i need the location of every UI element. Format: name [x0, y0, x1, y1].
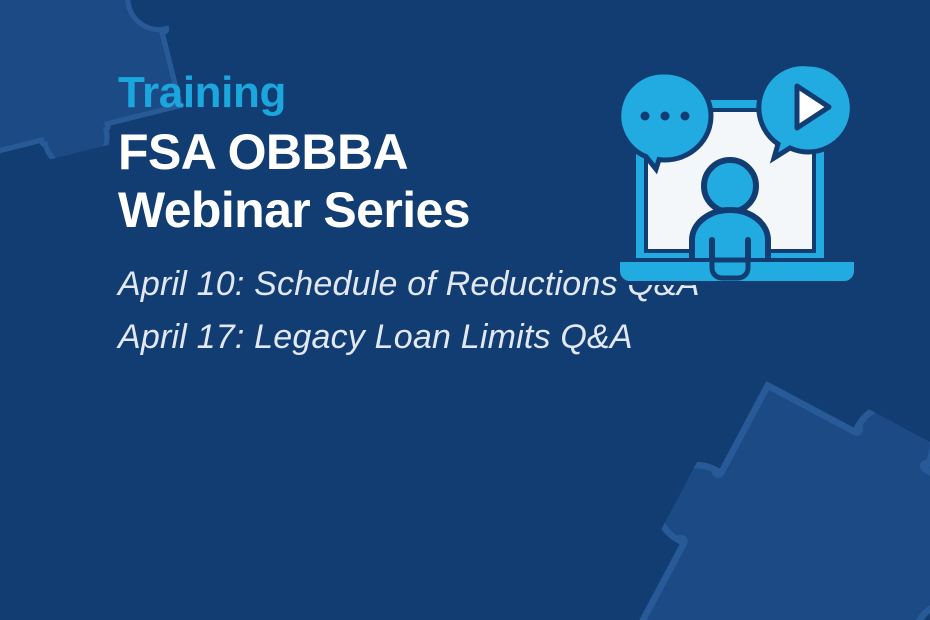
puzzle-piece-bottom-right-icon	[602, 350, 930, 620]
webinar-illustration	[612, 62, 862, 290]
webinar-illustration-icon	[612, 62, 862, 290]
session-item: April 17: Legacy Loan Limits Q&A	[118, 311, 818, 364]
presenter-avatar	[692, 160, 768, 270]
training-webinar-banner: Training FSA OBBBA Webinar Series April …	[0, 0, 930, 620]
laptop-base	[618, 260, 856, 283]
